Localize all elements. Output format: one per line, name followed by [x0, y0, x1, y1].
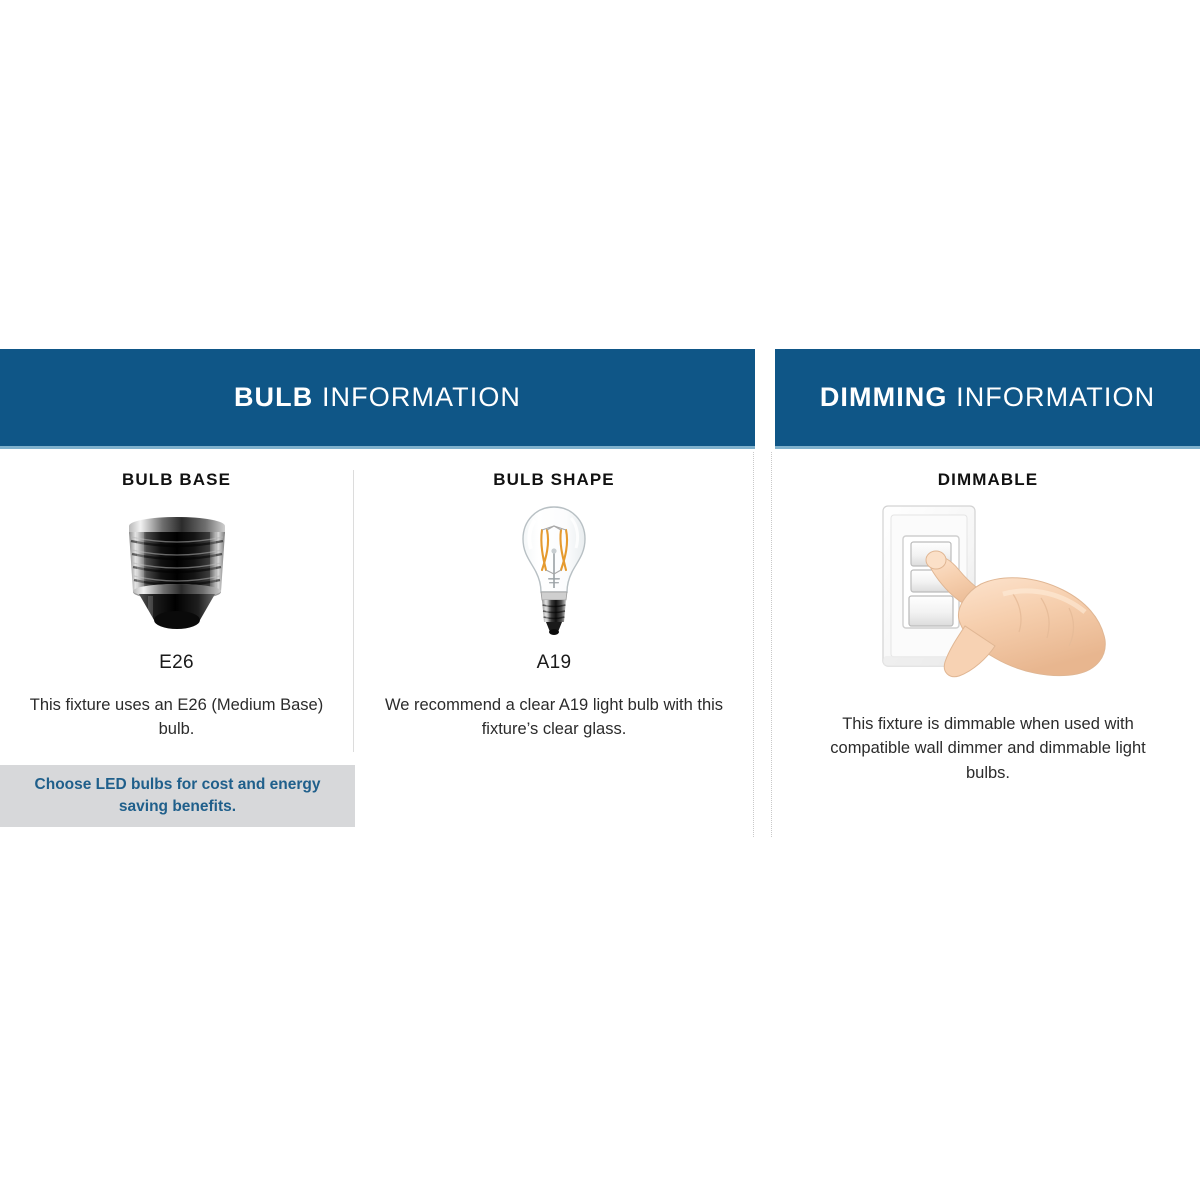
bulb-shape-caption: A19: [356, 652, 752, 674]
banner-right-strong: DIMMING: [820, 382, 948, 412]
bulb-shape-description: We recommend a clear A19 light bulb with…: [356, 693, 752, 742]
bulb-information-banner: BULB INFORMATION: [0, 349, 755, 449]
bulb-columns-divider: [353, 470, 354, 752]
bulb-base-caption: E26: [0, 652, 353, 674]
dimmable-heading: DIMMABLE: [776, 470, 1200, 490]
e26-bulb-base-icon: [122, 514, 232, 632]
banner-right-rest: INFORMATION: [948, 382, 1156, 412]
bulb-information-title: BULB INFORMATION: [234, 382, 521, 413]
led-tip-box: Choose LED bulbs for cost and energy sav…: [0, 765, 355, 827]
bulb-base-heading: BULB BASE: [0, 470, 353, 490]
dimmable-column: DIMMABLE: [776, 470, 1200, 785]
dimmer-image-wrap: [776, 498, 1200, 688]
bulb-base-description: This fixture uses an E26 (Medium Base) b…: [0, 693, 353, 742]
panel-dotted-separator-left: [753, 452, 754, 837]
bulb-dimming-info-page: BULB INFORMATION DIMMING INFORMATION BUL…: [0, 0, 1200, 1200]
banner-left-strong: BULB: [234, 382, 313, 412]
led-tip-text: Choose LED bulbs for cost and energy sav…: [0, 774, 355, 818]
banner-left-rest: INFORMATION: [313, 382, 521, 412]
a19-bulb-icon: [517, 504, 591, 642]
wall-dimmer-switch-icon: [863, 498, 1113, 688]
bulb-shape-image-wrap: [356, 498, 752, 648]
dimmable-description: This fixture is dimmable when used with …: [776, 712, 1200, 785]
dimming-information-banner: DIMMING INFORMATION: [775, 349, 1200, 449]
panel-dotted-separator-right: [771, 452, 772, 837]
dimming-information-title: DIMMING INFORMATION: [820, 382, 1155, 413]
bulb-base-column: BULB BASE: [0, 470, 353, 742]
bulb-base-image-wrap: [0, 498, 353, 648]
bulb-shape-heading: BULB SHAPE: [356, 470, 752, 490]
bulb-shape-column: BULB SHAPE: [356, 470, 752, 742]
